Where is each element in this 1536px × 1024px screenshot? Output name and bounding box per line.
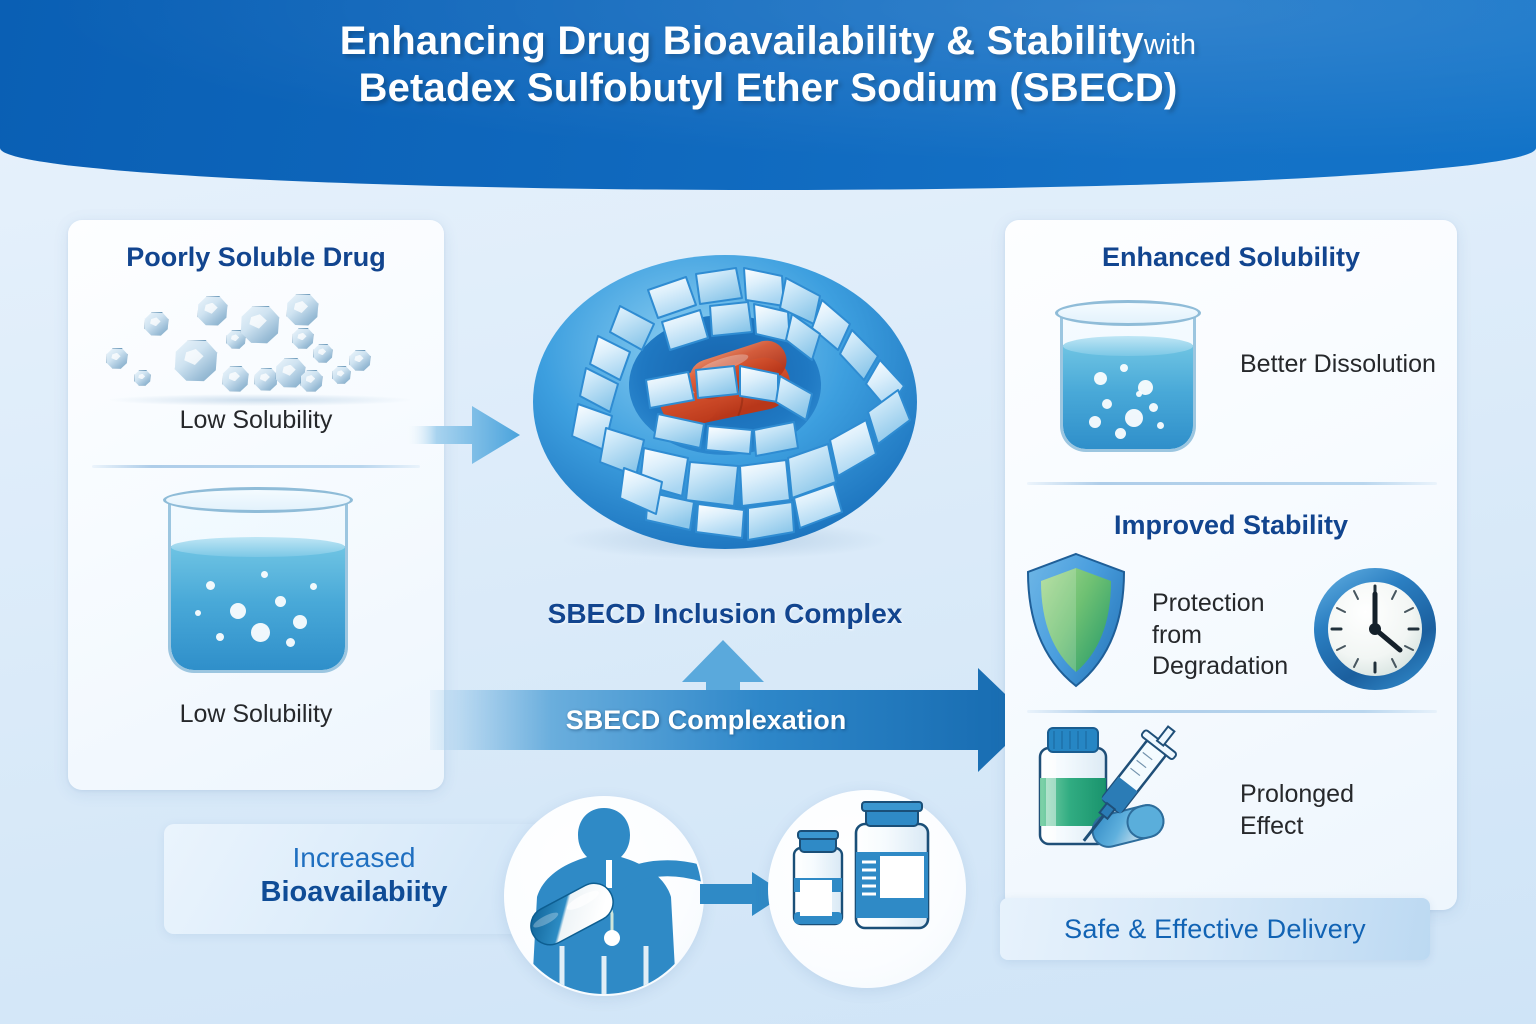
protection-line-1: Protection xyxy=(1152,588,1288,620)
bio-label-line-1: Increased xyxy=(164,842,544,874)
vial-syringe-capsule-icon xyxy=(1022,722,1252,872)
title-line-2: Betadex Sulfobutyl Ether Sodium (SBECD) xyxy=(0,65,1536,112)
right-divider-1 xyxy=(1027,482,1437,485)
prolonged-effect-caption: Prolonged Effect xyxy=(1240,778,1354,842)
bio-label-line-2: Bioavailabiity xyxy=(164,876,544,909)
protection-line-2: from xyxy=(1152,620,1288,652)
sbecd-complexation-arrow: SBECD Complexation xyxy=(430,690,1032,750)
title-main-text: Enhancing Drug Bioavailability & Stabili… xyxy=(340,19,1144,63)
protection-line-3: Degradation xyxy=(1152,651,1288,683)
page-title: Enhancing Drug Bioavailability & Stabili… xyxy=(0,18,1536,112)
band-arrow-label: SBECD Complexation xyxy=(430,690,982,750)
prolonged-line-2: Effect xyxy=(1240,810,1354,842)
title-line-1: Enhancing Drug Bioavailability & Stabili… xyxy=(0,18,1536,65)
title-with-text: with xyxy=(1144,29,1196,61)
low-solubility-beaker-icon xyxy=(168,487,348,673)
person-with-capsule-icon xyxy=(504,796,704,996)
complex-label: SBECD Inclusion Complex xyxy=(458,598,992,630)
improved-stability-heading: Improved Stability xyxy=(1005,510,1457,541)
better-dissolution-line: Better Dissolution xyxy=(1240,348,1436,380)
enhanced-solubility-beaker-icon xyxy=(1060,300,1196,452)
arrow-right-icon xyxy=(404,396,522,474)
left-card-heading: Poorly Soluble Drug xyxy=(68,242,444,273)
better-dissolution-caption: Better Dissolution xyxy=(1240,348,1436,380)
left-card-divider xyxy=(92,465,420,468)
right-divider-2 xyxy=(1027,710,1437,713)
drug-crystals-icon xyxy=(100,288,420,400)
crystal-shadow xyxy=(110,394,410,406)
protection-caption: Protection from Degradation xyxy=(1152,588,1288,683)
clock-icon xyxy=(1312,566,1438,692)
shield-icon xyxy=(1024,552,1128,688)
header-banner: Enhancing Drug Bioavailability & Stabili… xyxy=(0,0,1536,190)
safe-effective-delivery-band: Safe & Effective Delivery xyxy=(1000,898,1430,960)
sbecd-inclusion-complex-icon xyxy=(528,252,922,552)
footer-label: Safe & Effective Delivery xyxy=(1000,898,1430,960)
enhanced-solubility-heading: Enhanced Solubility xyxy=(1005,242,1457,273)
arrow-up-icon xyxy=(680,640,766,696)
prolonged-line-1: Prolonged xyxy=(1240,778,1354,810)
two-vials-icon xyxy=(768,790,966,988)
increased-bioavailability-band: Increased Bioavailabiity xyxy=(164,824,544,934)
left-beaker-caption: Low Solubility xyxy=(68,700,444,729)
left-crystal-caption: Low Solubility xyxy=(68,406,444,435)
